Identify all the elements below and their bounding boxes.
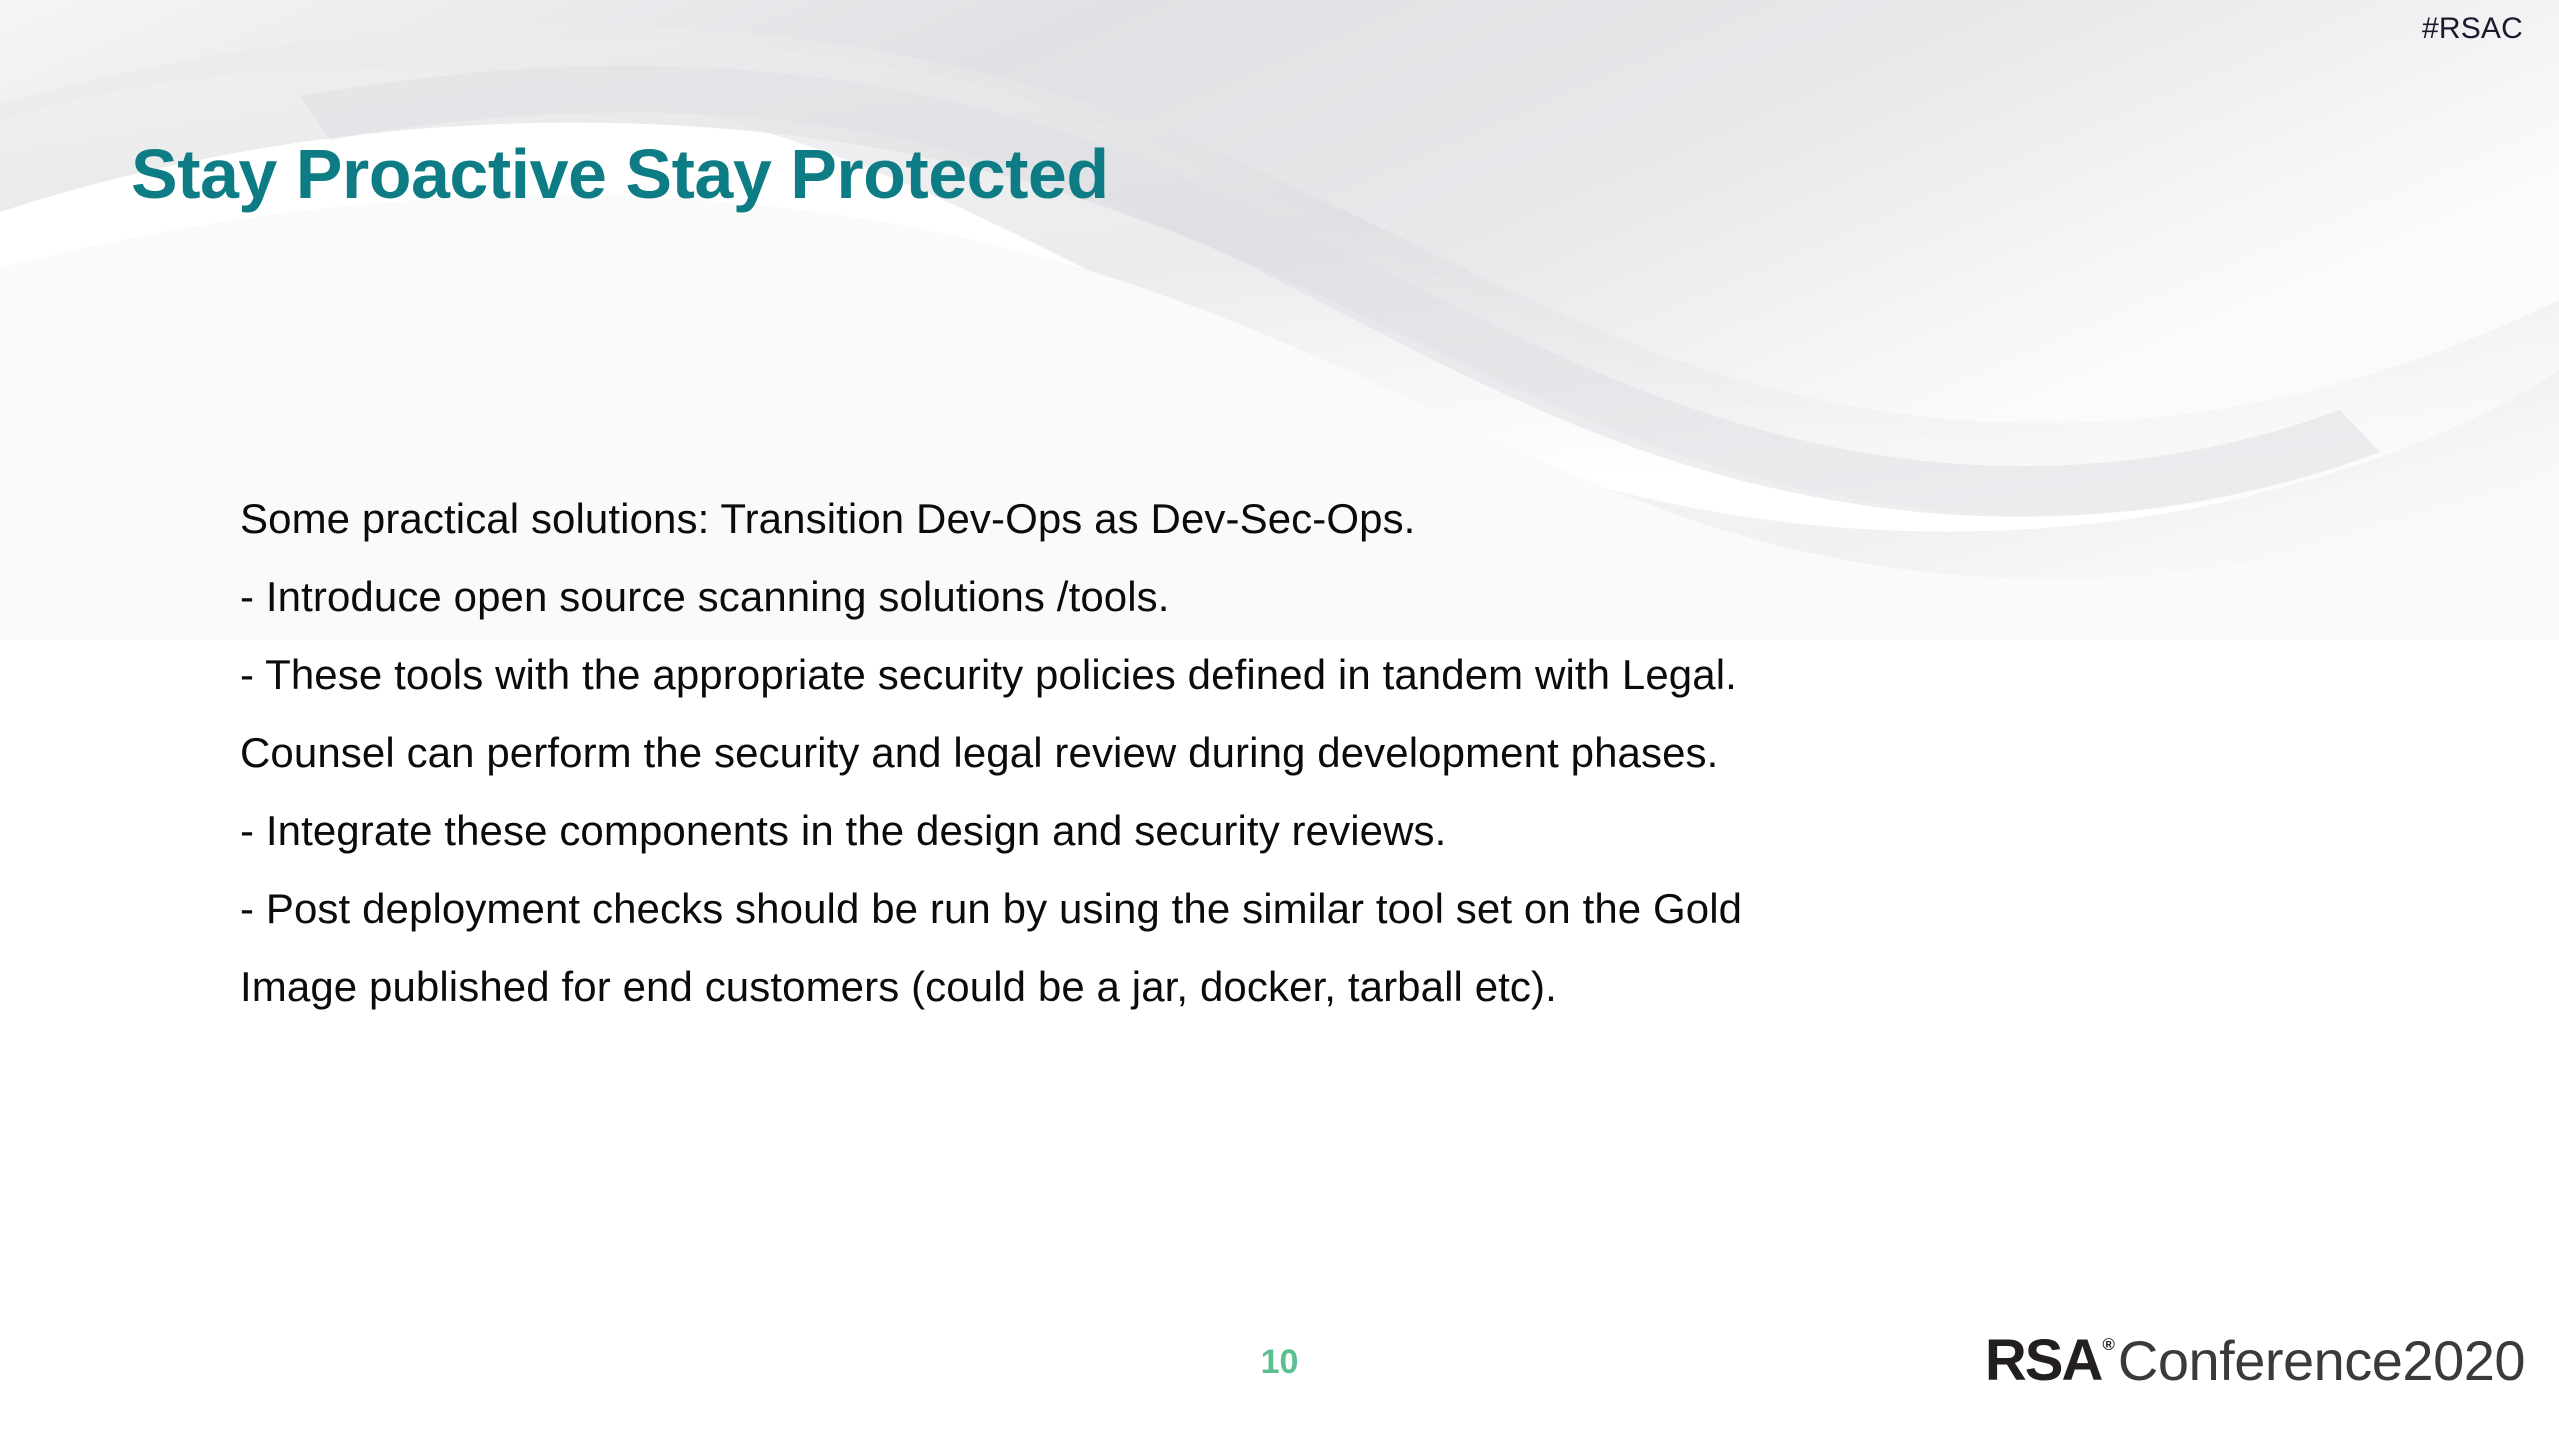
slide-canvas: #RSAC Stay Proactive Stay Protected Some…	[0, 0, 2559, 1439]
rsa-conference-logo: RSA ® Conference2020	[1985, 1332, 2525, 1390]
body-line: Image published for end customers (could…	[240, 948, 2420, 1026]
rsa-logo-mark: RSA	[1985, 1332, 2101, 1390]
conference-wordmark: Conference2020	[2118, 1333, 2525, 1389]
body-line: - These tools with the appropriate secur…	[240, 636, 2420, 714]
body-text-block: Some practical solutions: Transition Dev…	[240, 480, 2420, 1026]
rsac-hashtag: #RSAC	[2422, 14, 2523, 44]
page-title: Stay Proactive Stay Protected	[131, 135, 1109, 213]
registered-trademark-icon: ®	[2102, 1336, 2115, 1353]
body-line: Counsel can perform the security and leg…	[240, 714, 2420, 792]
body-line: Some practical solutions: Transition Dev…	[240, 480, 2420, 558]
body-line: - Introduce open source scanning solutio…	[240, 558, 2420, 636]
body-line: - Integrate these components in the desi…	[240, 792, 2420, 870]
body-line: - Post deployment checks should be run b…	[240, 870, 2420, 948]
